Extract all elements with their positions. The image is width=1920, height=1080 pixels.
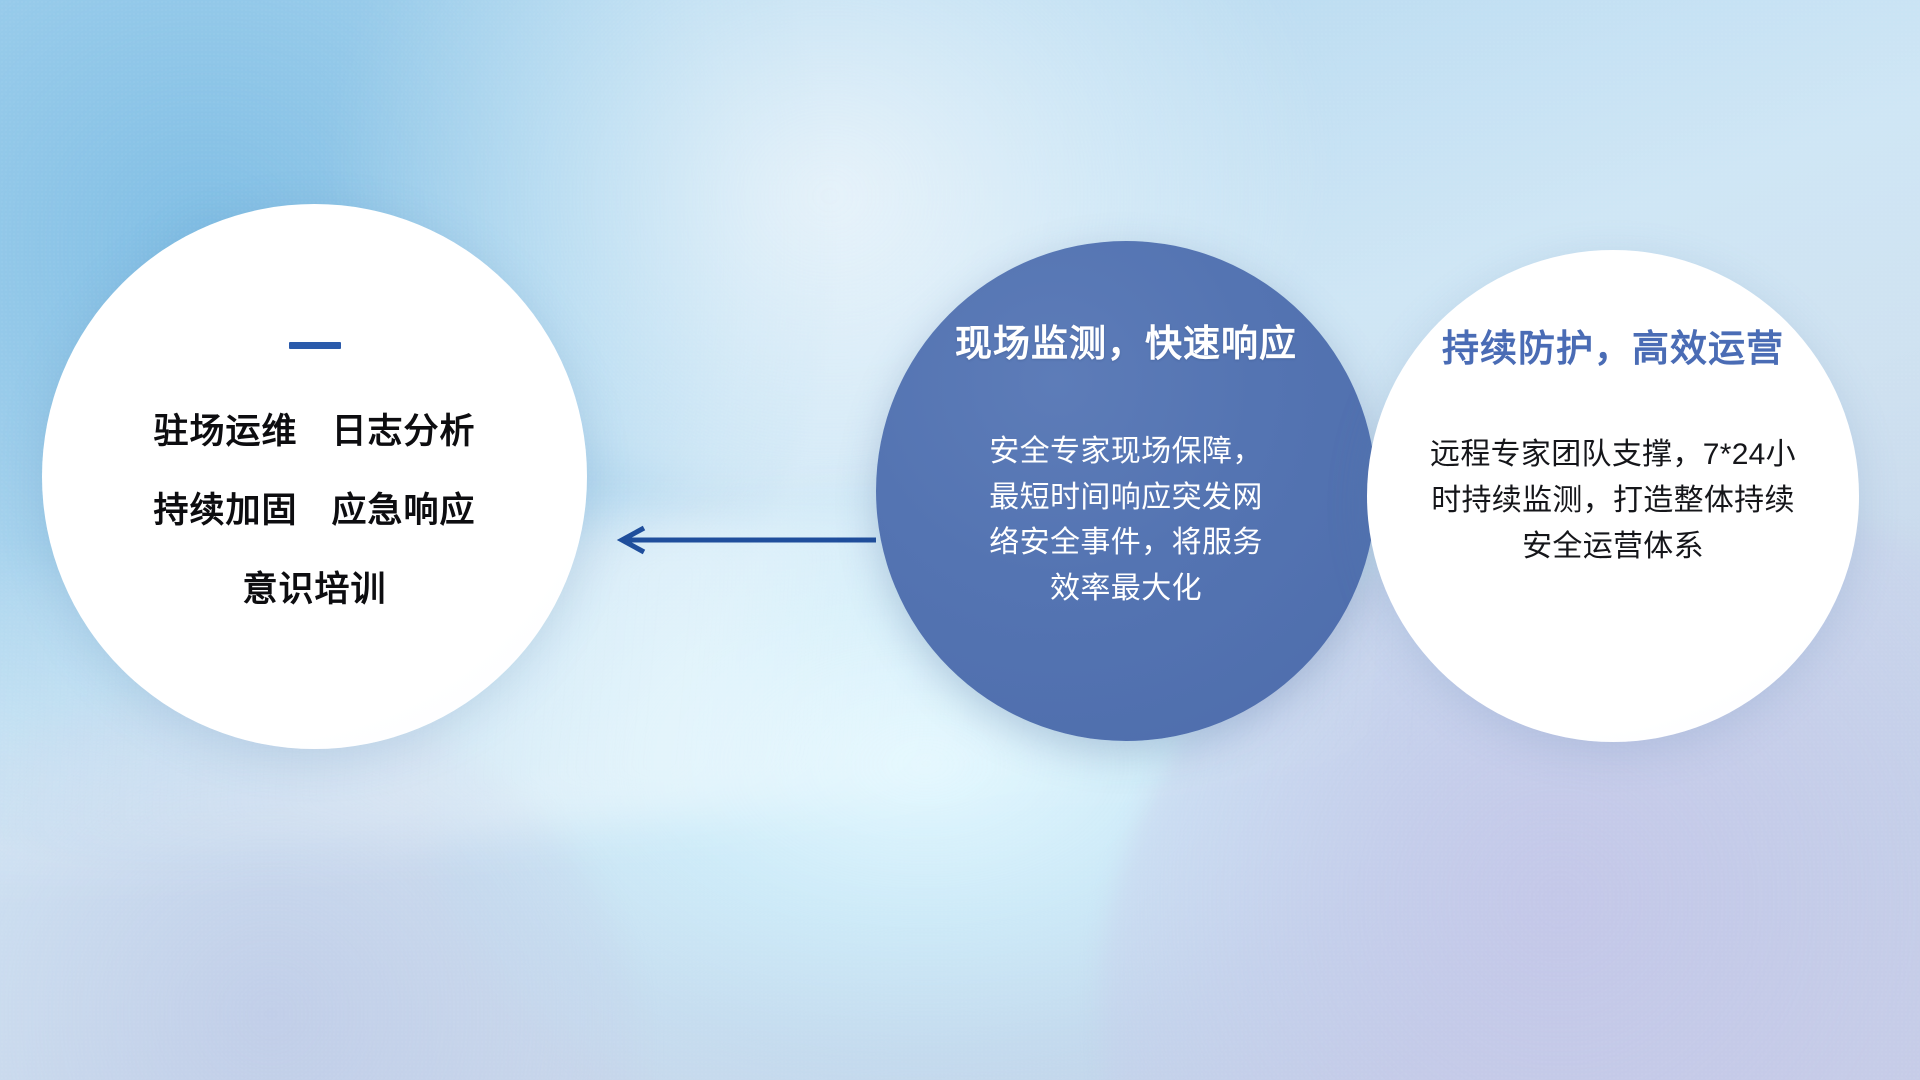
keyword-row: 意识培训 <box>242 561 386 612</box>
keyword-row: 驻场运维 日志分析 <box>153 403 475 454</box>
keyword-item: 驻场运维 <box>153 403 297 454</box>
keyword-item: 意识培训 <box>242 561 386 612</box>
horizontal-dash-icon <box>289 342 341 349</box>
middle-circle-card: 现场监测，快速响应 安全专家现场保障，最短时间响应突发网络安全事件，将服务效率最… <box>876 241 1376 741</box>
middle-circle-title: 现场监测，快速响应 <box>955 313 1297 367</box>
keyword-item: 持续加固 <box>153 482 297 533</box>
right-circle-title: 持续防护，高效运营 <box>1442 318 1784 372</box>
left-circle-card: 驻场运维 日志分析 持续加固 应急响应 意识培训 <box>42 204 587 749</box>
keyword-item: 应急响应 <box>332 482 476 533</box>
keyword-item: 日志分析 <box>332 403 476 454</box>
middle-circle-body: 安全专家现场保障，最短时间响应突发网络安全事件，将服务效率最大化 <box>976 429 1276 611</box>
connector-arrow <box>610 525 880 555</box>
right-circle-card: 持续防护，高效运营 远程专家团队支撑，7*24小时持续监测，打造整体持续安全运营… <box>1367 250 1859 742</box>
right-circle-body: 远程专家团队支撑，7*24小时持续监测，打造整体持续安全运营体系 <box>1427 432 1799 571</box>
arrow-left-icon <box>610 525 880 555</box>
slide-canvas: 现场监测，快速响应 安全专家现场保障，最短时间响应突发网络安全事件，将服务效率最… <box>0 0 1920 1080</box>
keyword-row: 持续加固 应急响应 <box>153 482 475 533</box>
